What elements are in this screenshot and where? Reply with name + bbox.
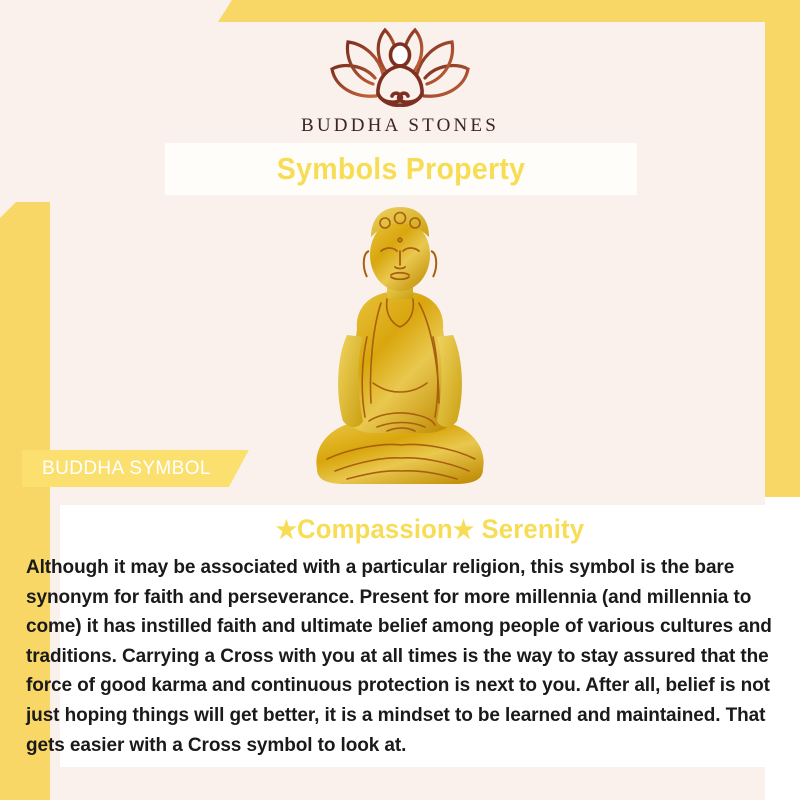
heading-word-compassion: Compassion	[297, 514, 453, 544]
top-yellow-border	[218, 0, 800, 22]
content-heading: ★Compassion★ Serenity	[79, 505, 782, 545]
star-icon-left: ★	[276, 516, 297, 544]
symbol-tag-label: BUDDHA SYMBOL	[42, 458, 211, 480]
brand-name: BUDDHA STONES	[0, 115, 800, 137]
title-banner: Symbols Property	[165, 143, 637, 195]
golden-seated-buddha-statue-icon	[307, 207, 493, 495]
page-title: Symbols Property	[277, 151, 526, 187]
heading-word-serenity: Serenity	[481, 514, 584, 544]
buddha-symbol-tag: BUDDHA SYMBOL	[22, 450, 249, 487]
content-body-text: Although it may be associated with a par…	[26, 545, 798, 760]
star-icon-right: ★	[453, 516, 474, 544]
content-panel: ★Compassion★ Serenity Although it may be…	[60, 505, 800, 767]
lotus-meditation-icon	[315, 24, 485, 109]
brand-logo-block: BUDDHA STONES	[0, 24, 800, 137]
poster-root: BUDDHA STONES Symbols Property	[0, 0, 800, 800]
